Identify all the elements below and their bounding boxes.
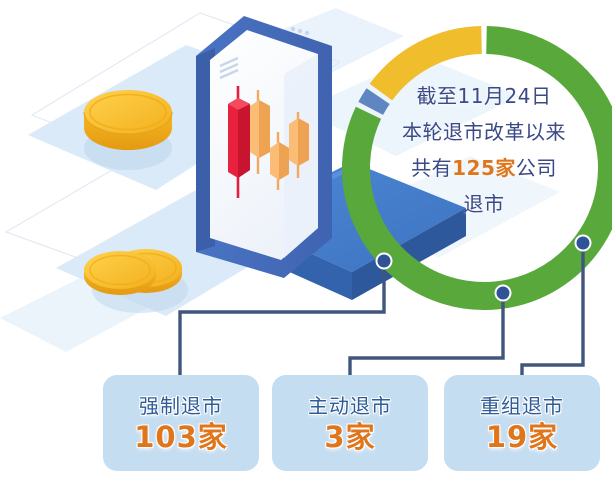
card-title: 主动退市 — [308, 393, 392, 419]
card-value: 3家 — [324, 421, 375, 454]
category-card-voluntary[interactable]: 主动退市 3家 — [272, 375, 428, 471]
card-title: 强制退市 — [139, 393, 223, 419]
category-card-compulsory[interactable]: 强制退市 103家 — [103, 375, 259, 471]
category-card-restructure[interactable]: 重组退市 19家 — [444, 375, 600, 471]
card-value: 19家 — [486, 421, 558, 454]
card-value: 103家 — [134, 421, 228, 454]
infographic-canvas: 截至11月24日 本轮退市改革以来 共有125家公司 退市 强制退市 103家 … — [0, 0, 612, 483]
connector-line-2 — [350, 293, 503, 375]
card-title: 重组退市 — [480, 393, 564, 419]
connector-line-3 — [522, 243, 583, 375]
callout-dots — [376, 235, 592, 302]
